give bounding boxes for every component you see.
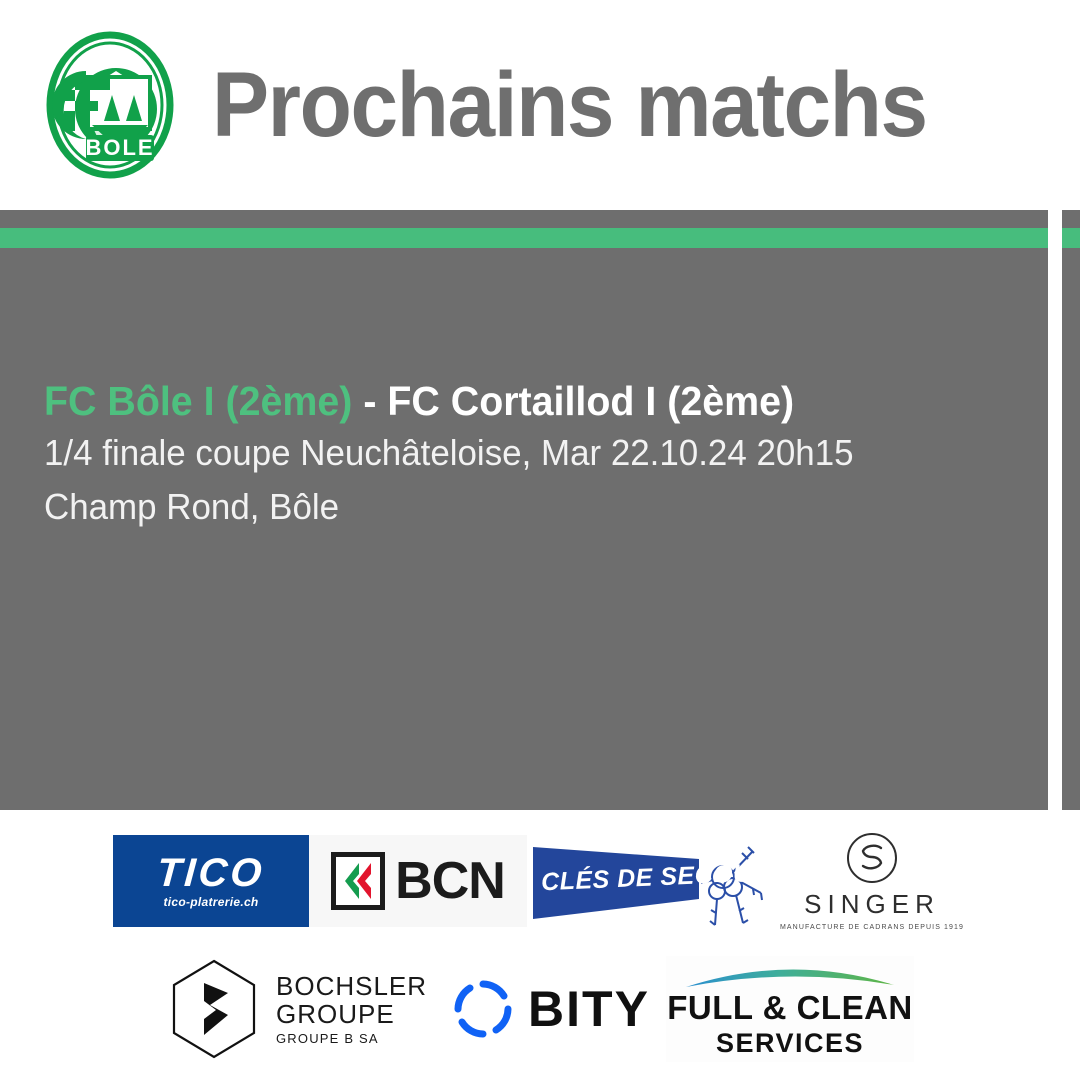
singer-wordmark: SINGER bbox=[804, 889, 940, 920]
cles-de-secours-logo: CLÉS DE SECOURS bbox=[527, 833, 777, 929]
home-team-name: FC Bôle I (2ème) bbox=[44, 378, 352, 424]
tico-wordmark: TICO bbox=[156, 853, 266, 893]
singer-logo: SINGER MANUFACTURE DE CADRANS DEPUIS 191… bbox=[777, 829, 967, 933]
accent-bar bbox=[0, 228, 1048, 248]
tico-url-text: tico-platrerie.ch bbox=[163, 895, 258, 909]
poster-root: BOLE Prochains matchs FC Bôle I (2ème) -… bbox=[0, 0, 1080, 1080]
sponsor-bity[interactable]: BITY bbox=[436, 954, 666, 1064]
teams-separator: - bbox=[352, 378, 387, 424]
full-clean-line-1: FULL & CLEAN bbox=[667, 991, 913, 1026]
sponsor-bcn[interactable]: BCN bbox=[309, 826, 527, 936]
full-clean-line-2: SERVICES bbox=[716, 1028, 864, 1059]
singer-s-circle-icon bbox=[845, 831, 899, 885]
singer-tagline: MANUFACTURE DE CADRANS DEPUIS 1919 bbox=[780, 924, 964, 931]
bochsler-line-2: GROUPE bbox=[276, 1000, 427, 1028]
sponsor-bochsler[interactable]: BOCHSLER GROUPE GROUPE B SA bbox=[166, 954, 436, 1064]
bochsler-line-3: GROUPE B SA bbox=[276, 1032, 427, 1046]
bochsler-logo: BOCHSLER GROUPE GROUPE B SA bbox=[166, 957, 436, 1061]
match-competition-datetime: 1/4 finale coupe Neuchâteloise, Mar 22.1… bbox=[44, 426, 995, 481]
tico-logo: TICO tico-platrerie.ch bbox=[113, 835, 309, 927]
bcn-wordmark: BCN bbox=[395, 851, 505, 911]
away-team-name: FC Cortaillod I (2ème) bbox=[387, 378, 794, 424]
bity-wordmark: BITY bbox=[528, 980, 650, 1038]
accent-bar-strip bbox=[1062, 228, 1080, 248]
bochsler-wordmark: BOCHSLER GROUPE GROUPE B SA bbox=[276, 972, 427, 1046]
right-side-strip bbox=[1062, 210, 1080, 810]
sponsor-singer[interactable]: SINGER MANUFACTURE DE CADRANS DEPUIS 191… bbox=[777, 826, 967, 936]
bcn-logo: BCN bbox=[309, 835, 527, 927]
crest-bole-text: BOLE bbox=[85, 135, 154, 160]
bity-logo: BITY bbox=[436, 961, 666, 1057]
full-and-clean-logo: FULL & CLEAN SERVICES bbox=[666, 956, 914, 1062]
sponsors-row-1: TICO tico-platrerie.ch BCN bbox=[0, 826, 1080, 936]
sponsor-tico[interactable]: TICO tico-platrerie.ch bbox=[113, 826, 309, 936]
match-teams: FC Bôle I (2ème) - FC Cortaillod I (2ème… bbox=[44, 378, 985, 426]
bochsler-hexagon-icon bbox=[166, 957, 262, 1061]
bity-circle-icon bbox=[452, 978, 514, 1040]
page-title: Prochains matchs bbox=[212, 59, 927, 151]
match-venue: Champ Rond, Bôle bbox=[44, 480, 995, 535]
bochsler-line-1: BOCHSLER bbox=[276, 972, 427, 1000]
header: BOLE Prochains matchs bbox=[0, 0, 1080, 210]
fc-bole-crest-logo: BOLE bbox=[30, 25, 190, 185]
full-clean-arc-icon bbox=[684, 959, 896, 989]
sponsor-full-and-clean[interactable]: FULL & CLEAN SERVICES bbox=[666, 954, 914, 1064]
sponsor-cles-de-secours[interactable]: CLÉS DE SECOURS bbox=[527, 826, 777, 936]
sponsors-row-2: BOCHSLER GROUPE GROUPE B SA bbox=[0, 954, 1080, 1064]
sponsors-section: TICO tico-platrerie.ch BCN bbox=[0, 810, 1080, 1080]
bcn-chevron-icon bbox=[331, 852, 385, 910]
match-card: FC Bôle I (2ème) - FC Cortaillod I (2ème… bbox=[44, 378, 1024, 535]
